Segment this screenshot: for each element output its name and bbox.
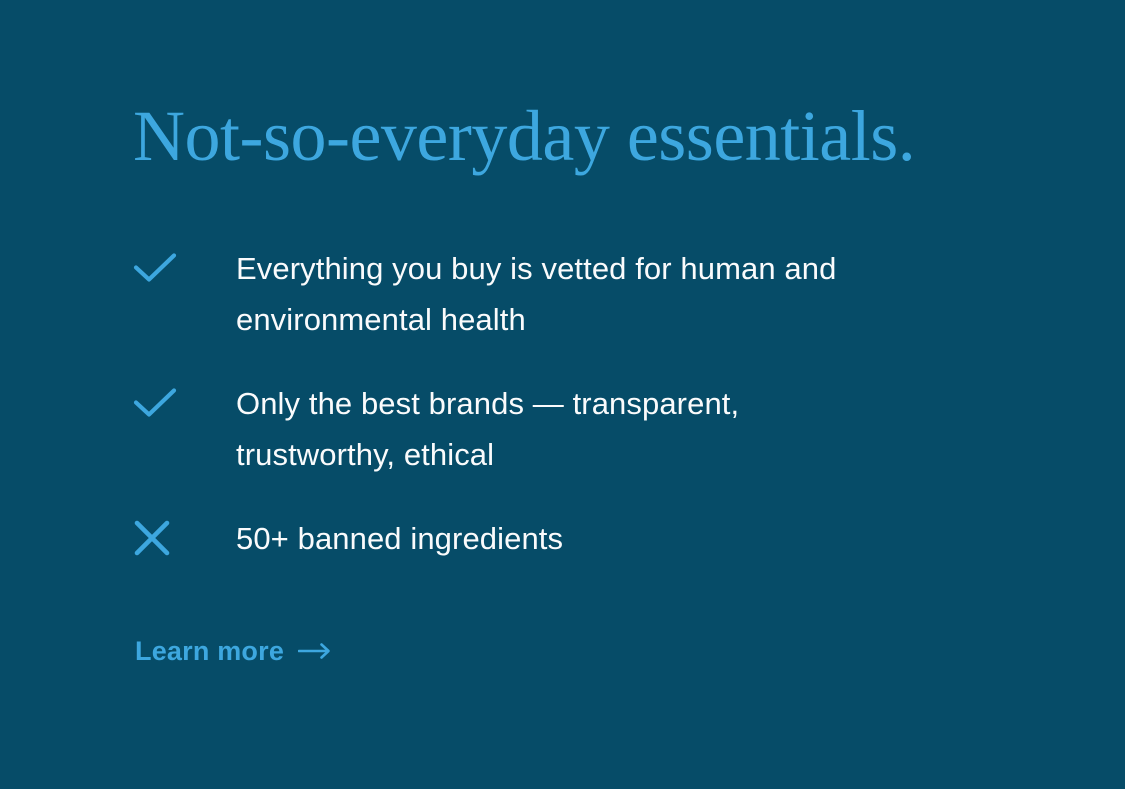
list-item-label: Everything you buy is vetted for human a… (236, 243, 896, 345)
promo-panel: Not-so-everyday essentials. Everything y… (0, 0, 1125, 789)
list-item-label: 50+ banned ingredients (236, 513, 896, 564)
list-item: Everything you buy is vetted for human a… (133, 243, 963, 345)
learn-more-link[interactable]: Learn more (135, 634, 332, 668)
learn-more-label: Learn more (135, 634, 284, 668)
list-item-label: Only the best brands — transparent, trus… (236, 378, 896, 480)
benefit-list: Everything you buy is vetted for human a… (133, 243, 963, 564)
check-icon (133, 243, 236, 287)
arrow-right-icon (298, 642, 332, 660)
list-item: 50+ banned ingredients (133, 513, 963, 564)
list-item: Only the best brands — transparent, trus… (133, 378, 963, 480)
x-icon (133, 513, 236, 557)
check-icon (133, 378, 236, 422)
page-title: Not-so-everyday essentials. (133, 93, 915, 179)
